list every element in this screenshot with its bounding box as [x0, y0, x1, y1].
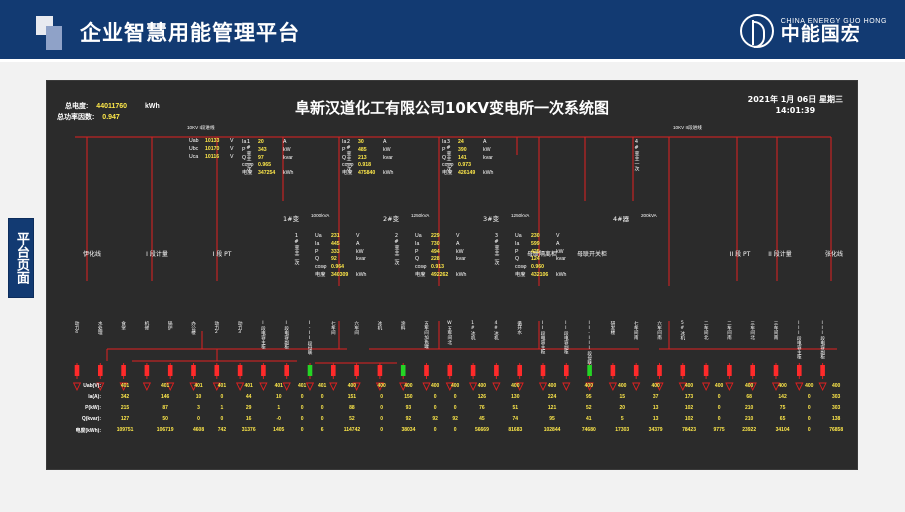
- measurement-row: 电度432106kWh: [515, 272, 566, 280]
- measurement-row: Q213kvar: [342, 155, 393, 163]
- table-cell: 401: [312, 381, 332, 392]
- feeder-label[interactable]: 4#冰机: [493, 321, 498, 340]
- table-cell: 0: [445, 403, 465, 414]
- table-cell: 20: [606, 403, 639, 414]
- breaker-indicator[interactable]: [704, 365, 709, 376]
- feeder-label[interactable]: 二车间北: [703, 321, 708, 339]
- table-cell: 92: [445, 413, 465, 424]
- table-cell: 4608: [185, 424, 212, 436]
- table-row: Ia(A):3421461004410001510150001261302249…: [53, 392, 853, 403]
- hv-cabinet-label[interactable]: 伊化线: [77, 249, 107, 258]
- sld-panel: 总电度: 44011760 kWh 总功率因数: 0.947 阜新汉道化工有限公…: [46, 80, 858, 470]
- measurement-row: Ia599A: [515, 241, 566, 249]
- feeder-label[interactable]: 六车间南: [657, 321, 662, 339]
- hv-voltage-block: Uab10133V Ubc10170V Uca10116V: [189, 138, 233, 161]
- breaker-indicator[interactable]: [261, 365, 266, 376]
- table-cell: 400: [445, 381, 465, 392]
- table-cell: 0: [372, 413, 392, 424]
- breaker-indicator[interactable]: [750, 365, 755, 376]
- hv-cabinet-label[interactable]: II 段计量: [765, 249, 795, 258]
- measurement-row: P390kW: [442, 147, 493, 155]
- breaker-indicator[interactable]: [587, 365, 592, 376]
- table-cell: 401: [292, 381, 312, 392]
- measurement-row: cosφ0.913: [415, 264, 466, 272]
- table-cell: 5: [606, 413, 639, 424]
- hv-cabinet-label[interactable]: 张化线: [819, 249, 849, 258]
- hv-feeder-measurement-block: Ia24AP390kWQ141kvarcosφ0.973电度426149kWh: [442, 139, 493, 178]
- table-cell: 0: [312, 413, 332, 424]
- table-cell: 95: [532, 413, 572, 424]
- breaker-indicator[interactable]: [727, 365, 732, 376]
- transformer-secondary-name: 2#变主二次: [393, 233, 399, 265]
- brand-chinese-text: 中能国宏: [781, 25, 887, 45]
- table-cell: 400: [706, 381, 733, 392]
- feeder-label[interactable]: 五车间加色罐: [424, 321, 429, 349]
- sidebar-item-platform-page[interactable]: 平台页面: [8, 218, 34, 298]
- table-row-header: 电度(kWh):: [53, 424, 105, 436]
- breaker-indicator[interactable]: [681, 365, 686, 376]
- feeder-label[interactable]: 研发楼: [610, 321, 615, 335]
- measurement-row: Ia730A: [415, 241, 466, 249]
- feeder-label[interactable]: II段电容主柜: [540, 321, 545, 354]
- table-cell: 0: [372, 403, 392, 414]
- table-cell: 44: [232, 392, 265, 403]
- table-cell: 0: [799, 392, 819, 403]
- measurement-row: Ia24A: [442, 139, 493, 147]
- table-cell: 81683: [499, 424, 532, 436]
- feeder-label[interactable]: II段电容副柜: [563, 321, 568, 354]
- table-cell: 88: [332, 403, 371, 414]
- measurement-row: Q92kvar: [315, 256, 366, 264]
- breaker-indicator[interactable]: [448, 365, 453, 376]
- table-cell: 106719: [145, 424, 185, 436]
- table-cell: 0: [185, 413, 212, 424]
- table-cell: 401: [265, 381, 292, 392]
- measurement-row: Ua230V: [515, 233, 566, 241]
- table-cell: 3: [185, 403, 212, 414]
- breaker-indicator[interactable]: [215, 365, 220, 376]
- table-cell: 0: [425, 392, 445, 403]
- table-cell: 92: [392, 413, 425, 424]
- measurement-row: Ia445A: [315, 241, 366, 249]
- hv-feeder-measurement-block: Ia20AP343kWQ97kvarcosφ0.965电度347254kWh: [242, 139, 293, 178]
- feeder-label[interactable]: 办公楼: [191, 321, 196, 335]
- table-row-header: Uab(V):: [53, 381, 105, 392]
- table-cell: 401: [145, 381, 185, 392]
- measurement-row: Q97kvar: [242, 155, 293, 163]
- breaker-indicator[interactable]: [75, 365, 80, 376]
- table-cell: 45: [465, 413, 498, 424]
- data-table: Uab(V):401401401401401401401401400400400…: [53, 381, 853, 436]
- measurement-row: Ua231V: [315, 233, 366, 241]
- table-cell: 0: [706, 413, 733, 424]
- table-cell: 400: [392, 381, 425, 392]
- breaker-indicator[interactable]: [401, 365, 406, 376]
- feeder-label[interactable]: 七车间南: [633, 321, 638, 339]
- table-cell: 401: [105, 381, 145, 392]
- transformer-secondary-name: 1#变主二次: [293, 233, 299, 265]
- feeder-label[interactable]: 循环水: [517, 321, 522, 335]
- table-cell: 114742: [332, 424, 371, 436]
- table-cell: 6: [312, 424, 332, 436]
- app-header: 企业智慧用能管理平台 CHINA ENERGY GUO HONG 中能国宏: [0, 0, 905, 62]
- feeder-label[interactable]: 锅炉: [167, 321, 172, 330]
- table-cell: 10: [185, 392, 212, 403]
- hv-cabinet-label[interactable]: I 段 PT: [207, 249, 237, 258]
- measurement-row: Ia20A: [242, 139, 293, 147]
- table-cell: 400: [799, 381, 819, 392]
- feeder-label[interactable]: 三车间北: [750, 321, 755, 339]
- table-cell: 127: [105, 413, 145, 424]
- feeder-label[interactable]: I-II段母联: [307, 321, 312, 355]
- breaker-indicator[interactable]: [820, 365, 825, 376]
- measurement-row: P333kW: [315, 249, 366, 257]
- transformer-measurement-block: Ua230VIa599AP425kWQ124kvarcosφ0.960电度432…: [515, 233, 566, 280]
- feeder-label[interactable]: II-III段母联: [587, 321, 592, 365]
- measurement-row: Q228kvar: [415, 256, 466, 264]
- table-cell: -0: [265, 413, 292, 424]
- table-cell: 210: [732, 403, 765, 414]
- table-cell: 0: [425, 403, 445, 414]
- transformer-tag: 4#器: [613, 213, 629, 223]
- table-cell: 0: [706, 403, 733, 414]
- hv-feeder-name: 4#变主一次: [633, 139, 639, 171]
- table-cell: 23922: [732, 424, 765, 436]
- feeder-label[interactable]: 七车间: [330, 321, 335, 335]
- table-cell: 150: [392, 392, 425, 403]
- table-cell: 34379: [639, 424, 672, 436]
- table-cell: 102: [672, 413, 705, 424]
- china-energy-guohong-logo-icon: CHINA ENERGY GUO HONG 中能国宏: [740, 10, 887, 52]
- table-cell: 400: [332, 381, 371, 392]
- feeder-label[interactable]: W五车间北: [447, 321, 452, 344]
- table-cell: 52: [572, 403, 605, 414]
- transformer-capacity: 200kVA: [641, 213, 657, 218]
- measurement-row: cosφ0.960: [515, 264, 566, 272]
- breaker-indicator[interactable]: [98, 365, 103, 376]
- table-cell: 0: [425, 424, 445, 436]
- measurement-row: 电度426149kWh: [442, 170, 493, 178]
- table-cell: 9775: [706, 424, 733, 436]
- measurement-row: Q124kvar: [515, 256, 566, 264]
- table-cell: 51: [499, 403, 532, 414]
- feeder-label[interactable]: 食堂: [121, 321, 126, 330]
- breaker-indicator[interactable]: [471, 365, 476, 376]
- breaker-indicator[interactable]: [657, 365, 662, 376]
- table-cell: 146: [145, 392, 185, 403]
- feeder-label[interactable]: 冰机: [377, 321, 382, 330]
- table-cell: 401: [212, 381, 232, 392]
- transformer-measurement-block: Ua229VIa730AP494kWQ228kvarcosφ0.913电度492…: [415, 233, 466, 280]
- feeder-label[interactable]: I段电容副柜: [284, 321, 289, 349]
- table-cell: 0: [799, 424, 819, 436]
- transformer-tag: 3#变: [483, 213, 499, 223]
- table-cell: 126: [465, 392, 498, 403]
- table-cell: 0: [445, 392, 465, 403]
- transformer-capacity: 1250kVA: [411, 213, 429, 218]
- table-cell: 400: [639, 381, 672, 392]
- feeder-label[interactable]: 动力2: [214, 321, 219, 335]
- table-cell: 400: [499, 381, 532, 392]
- table-cell: 303: [819, 392, 853, 403]
- measurement-row: cosφ0.964: [315, 264, 366, 272]
- feeder-label[interactable]: 5#冰机: [680, 321, 685, 340]
- table-cell: 76: [465, 403, 498, 414]
- table-cell: 1: [212, 403, 232, 414]
- breaker-indicator[interactable]: [774, 365, 779, 376]
- table-cell: 37: [639, 392, 672, 403]
- breaker-indicator[interactable]: [121, 365, 126, 376]
- table-cell: 215: [105, 403, 145, 414]
- transformer-capacity: 1000kVA: [311, 213, 329, 218]
- breaker-indicator[interactable]: [284, 365, 289, 376]
- page-title: 企业智慧用能管理平台: [80, 17, 300, 47]
- table-cell: 41: [572, 413, 605, 424]
- table-cell: 56669: [465, 424, 498, 436]
- table-row: P(kW):2158731291008809300765112152201310…: [53, 403, 853, 414]
- table-row: 电度(kWh):10975110671946087423137614050611…: [53, 424, 853, 436]
- table-cell: 16: [232, 413, 265, 424]
- table-cell: 303: [819, 403, 853, 414]
- hv-cabinet-label[interactable]: II 段 PT: [725, 249, 755, 258]
- square-blocks-logo-icon: [36, 16, 70, 50]
- breaker-indicator[interactable]: [541, 365, 546, 376]
- breaker-indicator[interactable]: [424, 365, 429, 376]
- breaker-indicator[interactable]: [517, 365, 522, 376]
- breaker-indicator[interactable]: [168, 365, 173, 376]
- table-cell: 74: [499, 413, 532, 424]
- hv-cabinet-label[interactable]: I 段计量: [142, 249, 172, 258]
- transformer-measurement-block: Ua231VIa445AP333kWQ92kvarcosφ0.964电度3403…: [315, 233, 366, 280]
- table-cell: 400: [465, 381, 498, 392]
- table-cell: 102: [672, 403, 705, 414]
- table-cell: 0: [212, 413, 232, 424]
- transformer-tag: 1#变: [283, 213, 299, 223]
- table-cell: 224: [532, 392, 572, 403]
- feeder-label[interactable]: 动力4: [74, 321, 79, 335]
- table-cell: 0: [312, 392, 332, 403]
- table-cell: 121: [532, 403, 572, 414]
- measurement-row: 电度347254kWh: [242, 170, 293, 178]
- transformer-capacity: 1250kVA: [511, 213, 529, 218]
- table-cell: 17303: [606, 424, 639, 436]
- table-cell: 1: [265, 403, 292, 414]
- hv-cabinet-label[interactable]: 母联开关柜: [577, 249, 607, 258]
- feeder-label[interactable]: 六车间: [354, 321, 359, 335]
- table-cell: 75: [766, 403, 799, 414]
- table-cell: 401: [232, 381, 265, 392]
- table-cell: 13: [639, 413, 672, 424]
- table-cell: 400: [766, 381, 799, 392]
- table-cell: 102844: [532, 424, 572, 436]
- feeder-label[interactable]: 水处理: [97, 321, 102, 335]
- breaker-indicator[interactable]: [634, 365, 639, 376]
- table-cell: 151: [332, 392, 371, 403]
- table-cell: 0: [372, 392, 392, 403]
- table-cell: 0: [292, 392, 312, 403]
- table-cell: 52: [332, 413, 371, 424]
- transformer-secondary-name: 3#变主二次: [493, 233, 499, 265]
- measurement-row: P343kW: [242, 147, 293, 155]
- table-cell: 93: [392, 403, 425, 414]
- table-cell: 138: [819, 413, 853, 424]
- breaker-indicator[interactable]: [238, 365, 243, 376]
- table-cell: 400: [572, 381, 605, 392]
- table-cell: 173: [672, 392, 705, 403]
- table-cell: 65: [766, 413, 799, 424]
- breaker-indicator[interactable]: [191, 365, 196, 376]
- table-cell: 10: [265, 392, 292, 403]
- feeder-label[interactable]: 动力3: [237, 321, 242, 335]
- table-cell: 0: [292, 403, 312, 414]
- table-cell: 0: [212, 392, 232, 403]
- feeder-label[interactable]: 1#冰机: [470, 321, 475, 340]
- table-cell: 0: [445, 424, 465, 436]
- table-cell: 742: [212, 424, 232, 436]
- table-row: Uab(V):401401401401401401401401400400400…: [53, 381, 853, 392]
- feeder-label[interactable]: 涂料: [400, 321, 405, 330]
- measurement-row: P425kW: [515, 249, 566, 257]
- feeder-label[interactable]: III段电容副柜: [820, 321, 825, 359]
- breaker-indicator[interactable]: [494, 365, 499, 376]
- table-cell: 95: [572, 392, 605, 403]
- hv-feeder-measurement-block: Ia30AP485kWQ213kvarcosφ0.918电度475840kWh: [342, 139, 393, 178]
- breaker-indicator[interactable]: [331, 365, 336, 376]
- breaker-indicator[interactable]: [378, 365, 383, 376]
- measurement-row: 电度492262kWh: [415, 272, 466, 280]
- table-cell: 400: [532, 381, 572, 392]
- table-cell: 68: [732, 392, 765, 403]
- measurement-row: P494kW: [415, 249, 466, 257]
- breaker-indicator[interactable]: [145, 365, 150, 376]
- table-cell: 400: [672, 381, 705, 392]
- table-row-header: Q(kvar):: [53, 413, 105, 424]
- feeder-label[interactable]: 三车间南: [773, 321, 778, 339]
- feeder-label[interactable]: I段电容主柜: [260, 321, 265, 349]
- table-cell: 29: [232, 403, 265, 414]
- table-cell: 130: [499, 392, 532, 403]
- table-cell: 0: [799, 413, 819, 424]
- table-cell: 0: [706, 392, 733, 403]
- table-cell: 400: [372, 381, 392, 392]
- breaker-indicator[interactable]: [611, 365, 616, 376]
- table-cell: 78423: [672, 424, 705, 436]
- measurement-row: 电度340309kWh: [315, 272, 366, 280]
- table-cell: 87: [145, 403, 185, 414]
- table-cell: 210: [732, 413, 765, 424]
- measurement-row: Ua229V: [415, 233, 466, 241]
- feeder-label[interactable]: III段电容主柜: [796, 321, 801, 359]
- table-cell: 142: [766, 392, 799, 403]
- table-cell: 74680: [572, 424, 605, 436]
- table-cell: 13: [639, 403, 672, 414]
- table-cell: 92: [425, 413, 445, 424]
- breaker-indicator[interactable]: [797, 365, 802, 376]
- feeder-data-table: Uab(V):401401401401401401401401400400400…: [53, 381, 853, 436]
- transformer-tag: 2#变: [383, 213, 399, 223]
- table-row: Q(kvar):127500016-0005209292924574954151…: [53, 413, 853, 424]
- table-cell: 38034: [392, 424, 425, 436]
- table-cell: 1405: [265, 424, 292, 436]
- breaker-indicator[interactable]: [564, 365, 569, 376]
- table-cell: 0: [292, 413, 312, 424]
- table-cell: 400: [425, 381, 445, 392]
- table-cell: 0: [312, 403, 332, 414]
- table-cell: 0: [372, 424, 392, 436]
- table-cell: 342: [105, 392, 145, 403]
- table-cell: 400: [732, 381, 765, 392]
- measurement-row: P485kW: [342, 147, 393, 155]
- table-cell: 31376: [232, 424, 265, 436]
- measurement-row: Q141kvar: [442, 155, 493, 163]
- table-cell: 109751: [105, 424, 145, 436]
- table-cell: 400: [819, 381, 853, 392]
- table-row-header: Ia(A):: [53, 392, 105, 403]
- table-cell: 15: [606, 392, 639, 403]
- table-cell: 0: [799, 403, 819, 414]
- breaker-indicator[interactable]: [308, 365, 313, 376]
- table-cell: 34104: [766, 424, 799, 436]
- feeder-label[interactable]: 机修: [144, 321, 149, 330]
- app-root: 企业智慧用能管理平台 CHINA ENERGY GUO HONG 中能国宏 平台…: [0, 0, 905, 512]
- table-cell: 401: [185, 381, 212, 392]
- table-cell: 50: [145, 413, 185, 424]
- table-cell: 76858: [819, 424, 853, 436]
- table-row-header: P(kW):: [53, 403, 105, 414]
- table-cell: 400: [606, 381, 639, 392]
- measurement-row: 电度475840kWh: [342, 170, 393, 178]
- measurement-row: Ia30A: [342, 139, 393, 147]
- table-cell: 0: [292, 424, 312, 436]
- feeder-label[interactable]: 二车间南: [726, 321, 731, 339]
- breaker-indicator[interactable]: [354, 365, 359, 376]
- sidebar-item-label: 平台页面: [14, 232, 28, 284]
